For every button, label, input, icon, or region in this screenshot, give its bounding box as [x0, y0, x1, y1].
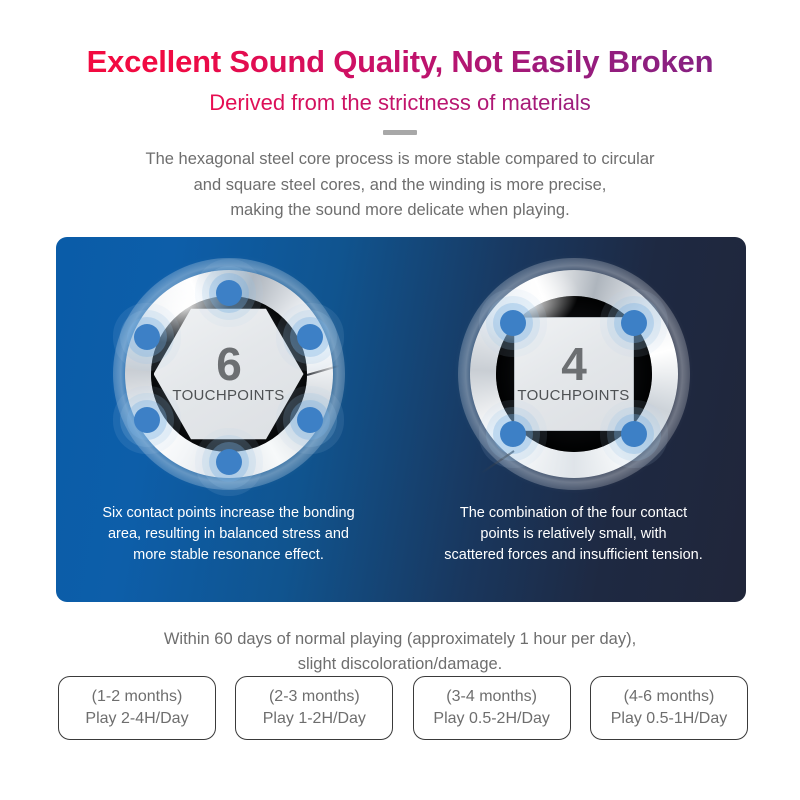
touchpoint-dot [216, 280, 242, 306]
hex-caption-line-2: area, resulting in balanced stress and [82, 524, 375, 545]
usage-chip-row: (1-2 months) Play 2-4H/Day (2-3 months) … [58, 676, 748, 740]
usage-chip: (1-2 months) Play 2-4H/Day [58, 676, 216, 740]
touchpoint-dot [297, 407, 323, 433]
usage-chip: (3-4 months) Play 0.5-2H/Day [413, 676, 571, 740]
square-caption: The combination of the four contact poin… [401, 503, 746, 566]
intro-line-1: The hexagonal steel core process is more… [70, 147, 730, 173]
comparison-panel: 6 TOUCHPOINTS 4 TOUCH [56, 237, 746, 602]
intro-line-2: and square steel cores, and the winding … [70, 173, 730, 199]
warranty-note-line-1: Within 60 days of normal playing (approx… [0, 627, 800, 652]
title-divider [0, 130, 800, 135]
warranty-note-line-2: slight discoloration/damage. [0, 652, 800, 677]
hexagon-touchpoint-count: 6 [216, 344, 241, 385]
panel-captions: Six contact points increase the bonding … [56, 503, 746, 566]
hex-caption-line-1: Six contact points increase the bonding [82, 503, 375, 524]
divider-bar [383, 130, 417, 135]
hexagon-illustration: 6 TOUCHPOINTS [56, 243, 401, 505]
intro-paragraph: The hexagonal steel core process is more… [70, 147, 730, 224]
square-touchpoint-count: 4 [561, 344, 586, 385]
hexagon-caption: Six contact points increase the bonding … [56, 503, 401, 566]
square-core-label: TOUCHPOINTS [517, 387, 629, 404]
sq-caption-line-3: scattered forces and insufficient tensio… [427, 545, 720, 566]
page-title: Excellent Sound Quality, Not Easily Brok… [0, 44, 800, 80]
hex-caption-line-3: more stable resonance effect. [82, 545, 375, 566]
hexagon-disc: 6 TOUCHPOINTS [113, 258, 345, 490]
chip-usage: Play 0.5-1H/Day [611, 708, 728, 730]
warranty-note: Within 60 days of normal playing (approx… [0, 627, 800, 677]
hexagon-core-label: TOUCHPOINTS [172, 387, 284, 404]
sq-caption-line-2: points is relatively small, with [427, 524, 720, 545]
chip-period: (4-6 months) [624, 686, 715, 708]
touchpoint-dot [621, 310, 647, 336]
touchpoint-dot [134, 324, 160, 350]
chip-usage: Play 0.5-2H/Day [433, 708, 550, 730]
touchpoint-dot [500, 310, 526, 336]
touchpoint-dot [216, 449, 242, 475]
chip-period: (1-2 months) [92, 686, 183, 708]
usage-chip: (2-3 months) Play 1-2H/Day [235, 676, 393, 740]
chip-period: (3-4 months) [446, 686, 537, 708]
page-subtitle: Derived from the strictness of materials [0, 90, 800, 116]
square-core: 4 TOUCHPOINTS [514, 317, 634, 431]
touchpoint-dot [297, 324, 323, 350]
header-section: Excellent Sound Quality, Not Easily Brok… [0, 0, 800, 224]
chip-period: (2-3 months) [269, 686, 360, 708]
intro-line-3: making the sound more delicate when play… [70, 198, 730, 224]
square-disc: 4 TOUCHPOINTS [458, 258, 690, 490]
sq-caption-line-1: The combination of the four contact [427, 503, 720, 524]
touchpoint-dot [621, 421, 647, 447]
square-illustration: 4 TOUCHPOINTS [401, 243, 746, 505]
usage-chip: (4-6 months) Play 0.5-1H/Day [590, 676, 748, 740]
chip-usage: Play 1-2H/Day [263, 708, 366, 730]
chip-usage: Play 2-4H/Day [85, 708, 188, 730]
